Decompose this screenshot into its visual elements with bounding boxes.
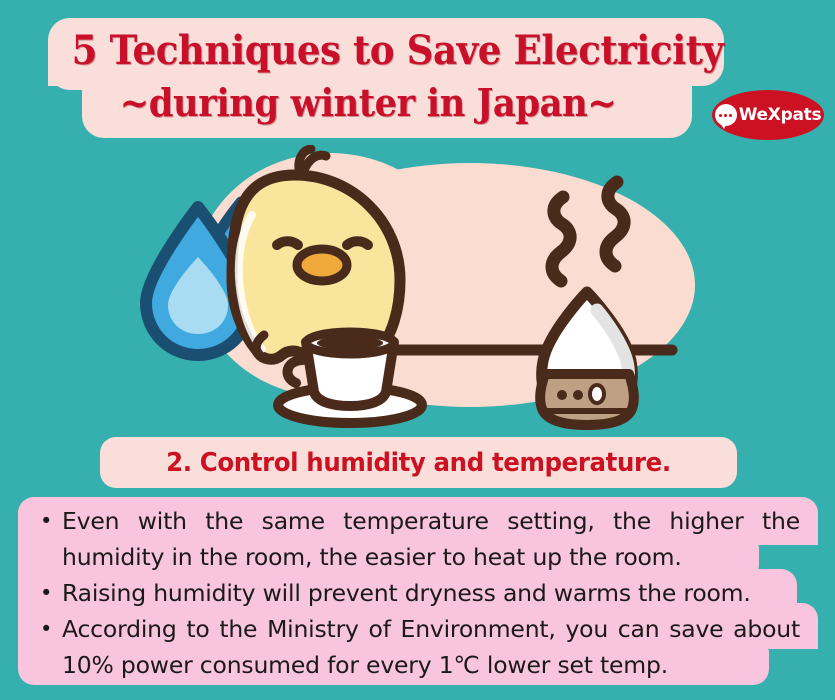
title-banner: 5 Techniques to Save Electricity ~during… [48,18,724,138]
illustration-area [0,145,835,430]
section-subtitle-banner: 2. Control humidity and temperature. [100,437,737,488]
infographic-canvas: 5 Techniques to Save Electricity ~during… [0,0,835,700]
speech-bubble-globe-icon [715,104,737,126]
section-subtitle-text: 2. Control humidity and temperature. [166,448,671,478]
list-item: Even with the same temperature setting, … [40,503,800,575]
wexpats-logo[interactable]: WeXpats [712,90,824,140]
page-title-line-2: ~during winter in Japan~ [70,74,665,132]
bullet-list: Even with the same temperature setting, … [40,503,800,683]
wexpats-wordmark: WeXpats [739,105,822,125]
list-item: Raising humidity will prevent dryness an… [40,575,800,611]
page-title-line-1: 5 Techniques to Save Electricity [72,22,701,80]
body-panel: Even with the same temperature setting, … [18,497,818,685]
list-item: According to the Ministry of Environment… [40,611,800,683]
